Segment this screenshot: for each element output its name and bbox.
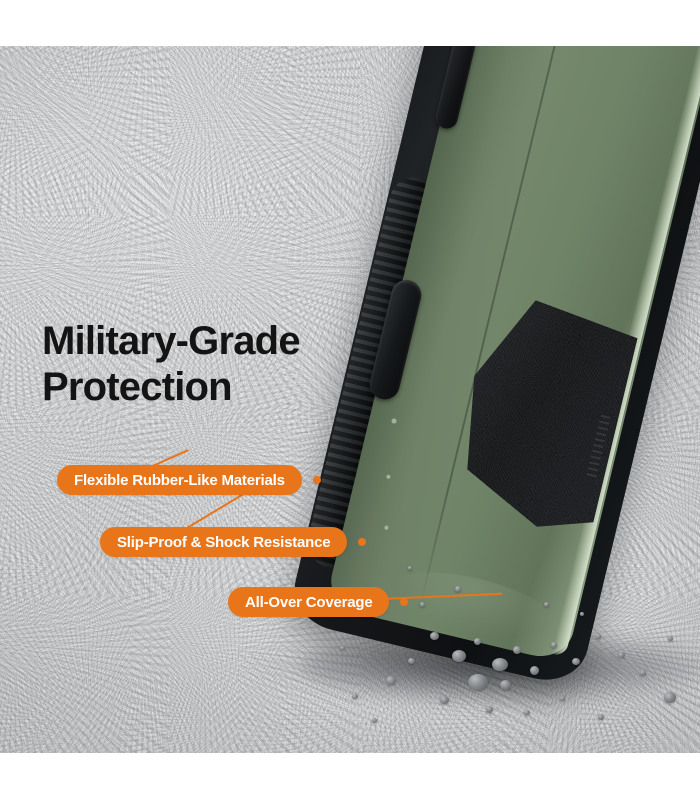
debris-particle [524,710,530,715]
debris-particle [474,638,481,645]
product-photo: Military-Grade Protection Flexible Rubbe… [0,46,700,753]
debris-particle [618,652,625,658]
feature-callout-2[interactable]: Slip-Proof & Shock Resistance [100,527,366,557]
debris-particle [513,646,521,654]
debris-particle [572,658,580,665]
feature-callout-3[interactable]: All-Over Coverage [228,587,408,617]
debris-particle [372,718,377,723]
debris-particle [386,676,396,685]
debris-particle [580,612,584,616]
feature-pill-label[interactable]: Flexible Rubber-Like Materials [57,465,302,495]
debris-particle [430,632,439,640]
debris-particle [408,658,415,664]
debris-particle [596,634,601,639]
feature-callout-1[interactable]: Flexible Rubber-Like Materials [57,465,321,495]
debris-particle [544,602,549,607]
debris-particle [468,674,488,690]
leader-dot-icon [400,598,408,606]
debris-particle [664,692,676,703]
feature-pill-label[interactable]: All-Over Coverage [228,587,389,617]
page-title: Military-Grade Protection [42,318,382,411]
debris-particle [440,696,449,704]
feature-pill-label[interactable]: Slip-Proof & Shock Resistance [100,527,347,557]
debris-particle [420,602,425,607]
debris-particle [551,642,557,648]
debris-particle [352,694,358,699]
product-feature-image: Military-Grade Protection Flexible Rubbe… [0,0,700,800]
debris-particle [668,636,673,641]
leader-dot-icon [358,538,366,546]
debris-particle [455,586,461,592]
debris-particle [340,646,345,650]
leader-dot-icon [313,476,321,484]
debris-particle [640,670,646,676]
debris-particle [530,666,539,675]
debris-particle [598,714,604,720]
debris-particle [452,650,466,662]
debris-particle [500,680,511,690]
debris-particle [486,706,493,713]
debris-particle [408,566,412,570]
debris-particle [560,696,565,701]
debris-particle [492,658,508,671]
